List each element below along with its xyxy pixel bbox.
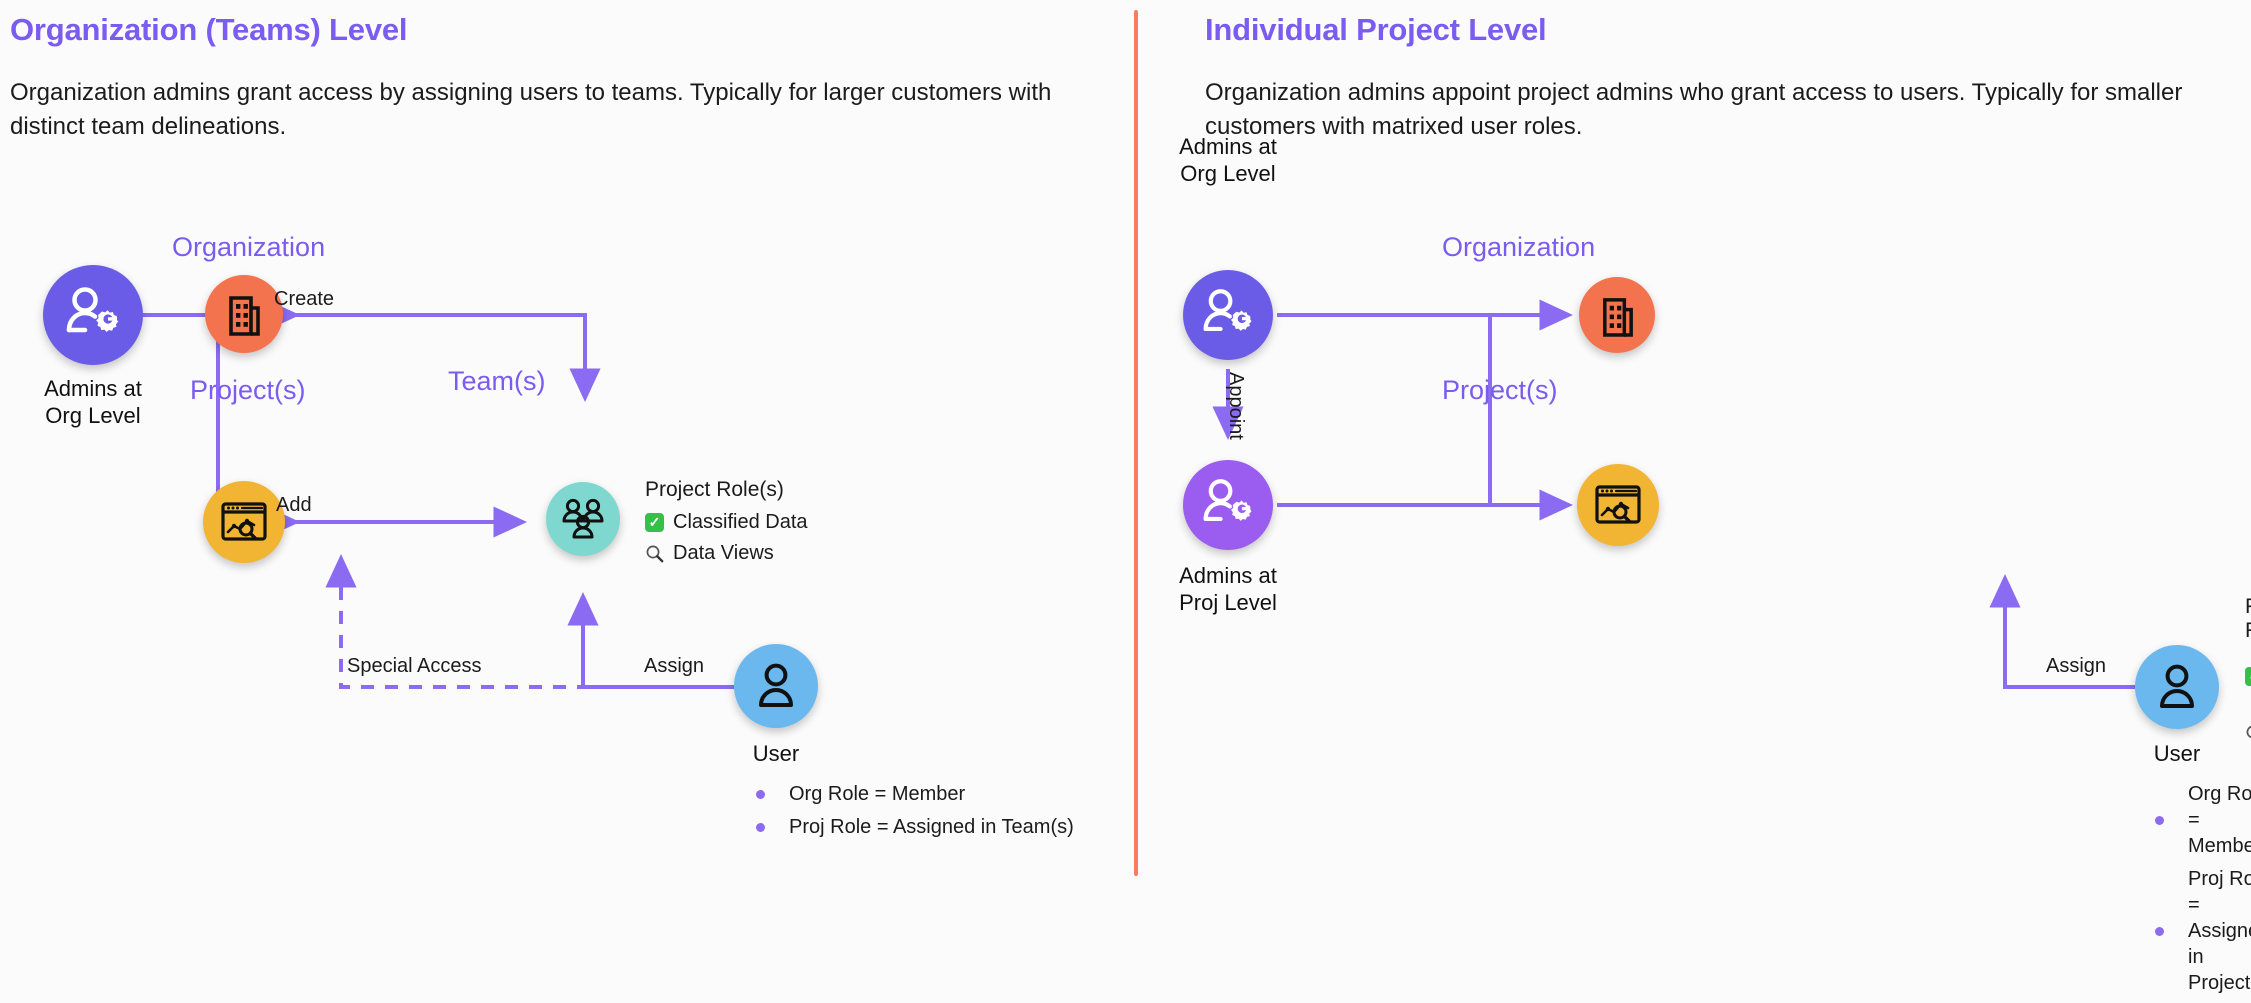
left-user-caption: User: [696, 740, 856, 767]
list-item: Proj Role = Assigned in Project(s): [2155, 866, 2251, 996]
left-diagram: Admins at Org Level Organization Create …: [0, 0, 1135, 893]
right-project-roles-title: Project Role(s): [2245, 595, 2251, 643]
left-edge-add-label: Add: [276, 494, 312, 517]
right-organization-node[interactable]: [1579, 277, 1655, 353]
building-icon: [224, 292, 264, 336]
dashboard-chart-icon: [220, 500, 268, 544]
list-item: Org Role = Member: [756, 781, 1074, 807]
right-user-bullets: Org Role = Member Proj Role = Assigned i…: [2155, 781, 2251, 1003]
dashboard-chart-icon: [1594, 483, 1642, 527]
people-group-icon: [559, 497, 607, 541]
left-organization-node[interactable]: [205, 275, 283, 353]
right-user-bullet-1: Proj Role = Assigned in Project(s): [2188, 866, 2251, 996]
person-icon: [757, 663, 795, 709]
right-role-data-views: Data Views: [2245, 707, 2251, 759]
green-check-icon: ✓: [645, 513, 664, 532]
left-user-bullet-1: Proj Role = Assigned in Team(s): [789, 814, 1074, 840]
left-project-node[interactable]: [203, 481, 285, 563]
magnifier-icon: [645, 544, 664, 563]
bullet-dot-icon: [756, 790, 765, 799]
left-user-node[interactable]: [734, 644, 818, 728]
bullet-dot-icon: [2155, 927, 2164, 936]
right-user-node[interactable]: [2135, 645, 2219, 729]
left-edge-create-label: Create: [274, 288, 334, 311]
right-user-caption: User: [2097, 740, 2251, 767]
right-project-node[interactable]: [1577, 464, 1659, 546]
left-role-classified-data: ✓ Classified Data: [645, 509, 808, 535]
right-org-admin-node[interactable]: [1183, 270, 1273, 360]
list-item: Proj Role = Assigned in Team(s): [756, 814, 1074, 840]
left-edge-special-access-label: Special Access: [347, 655, 482, 678]
left-project-roles: Project Role(s) ✓ Classified Data Data V…: [645, 478, 808, 571]
right-project-heading: Project(s): [1442, 375, 1558, 406]
right-organization-heading: Organization: [1442, 232, 1595, 263]
right-edge-appoint-label: Appoint: [1224, 372, 1247, 440]
right-project-roles: Project Role(s) ✓ Classified Data Data V…: [2245, 595, 2251, 764]
admin-key-icon: [1200, 288, 1256, 342]
right-diagram: Admins at Org Level Appoint: [1135, 0, 2251, 893]
left-org-admin-caption: Admins at Org Level: [0, 375, 193, 429]
left-team-heading: Team(s): [448, 366, 546, 397]
right-proj-admin-caption: Admins at Proj Level: [1143, 562, 1313, 616]
left-edge-assign-label: Assign: [644, 655, 704, 678]
admin-key-icon: [63, 286, 123, 344]
right-edge-assign-label: Assign: [2046, 655, 2106, 678]
organization-teams-level-panel: Organization (Teams) Level Organization …: [0, 0, 1135, 893]
admin-key-icon: [1200, 478, 1256, 532]
left-role-classified-data-label: Classified Data: [673, 509, 808, 535]
magnifier-icon: [2245, 724, 2251, 743]
right-proj-admin-node[interactable]: [1183, 460, 1273, 550]
left-project-roles-title: Project Role(s): [645, 478, 808, 502]
right-role-classified-data: ✓ Classified Data: [2245, 650, 2251, 702]
left-role-data-views: Data Views: [645, 540, 808, 566]
left-role-data-views-label: Data Views: [673, 540, 774, 566]
building-icon: [1598, 294, 1637, 337]
left-diagram-wires: [0, 0, 1135, 893]
bullet-dot-icon: [756, 823, 765, 832]
left-organization-heading: Organization: [172, 232, 325, 263]
individual-project-level-panel: Individual Project Level Organization ad…: [1135, 0, 2251, 893]
left-user-bullets: Org Role = Member Proj Role = Assigned i…: [756, 781, 1074, 847]
left-project-heading: Project(s): [190, 375, 306, 406]
left-team-node[interactable]: [546, 482, 620, 556]
person-icon: [2158, 664, 2196, 710]
right-user-bullet-0: Org Role = Member: [2188, 781, 2251, 859]
bullet-dot-icon: [2155, 816, 2164, 825]
left-user-bullet-0: Org Role = Member: [789, 781, 965, 807]
left-org-admin-node[interactable]: [43, 265, 143, 365]
list-item: Org Role = Member: [2155, 781, 2251, 859]
green-check-icon: ✓: [2245, 667, 2251, 686]
right-org-admin-caption: Admins at Org Level: [1143, 133, 1313, 187]
